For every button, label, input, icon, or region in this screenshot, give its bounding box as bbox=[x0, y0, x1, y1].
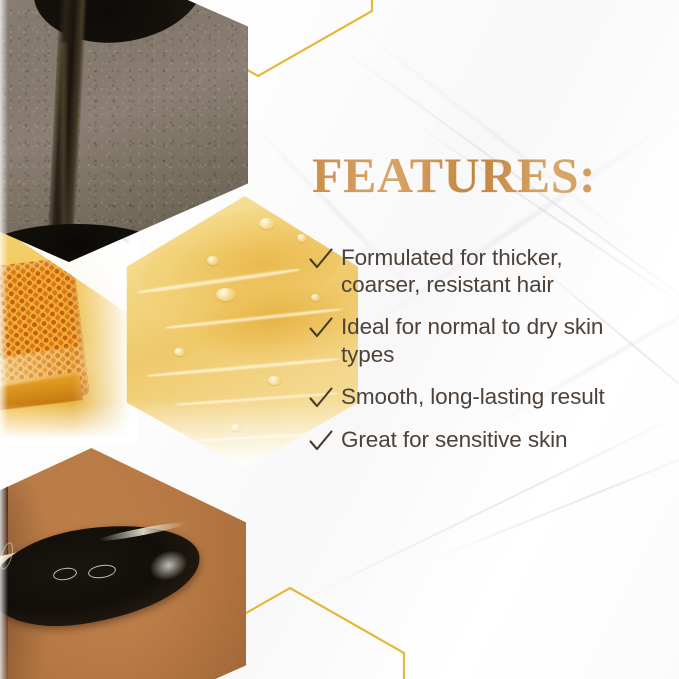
list-item: Formulated for thicker, coarser, resista… bbox=[308, 244, 670, 298]
features-heading: FEATURES: bbox=[312, 150, 670, 200]
image-fade-bottom bbox=[0, 403, 138, 444]
check-mark-icon bbox=[308, 315, 334, 341]
wax-bead bbox=[297, 234, 307, 242]
wax-bead bbox=[268, 376, 281, 385]
check-mark-icon bbox=[308, 428, 334, 454]
feature-label: Formulated for thicker, coarser, resista… bbox=[341, 244, 641, 298]
feature-label: Great for sensitive skin bbox=[341, 426, 567, 453]
check-mark-icon bbox=[308, 385, 334, 411]
check-mark-icon bbox=[308, 246, 334, 272]
wax-bead bbox=[207, 256, 219, 265]
feature-text-column: FEATURES: Formulated for thicker, coarse… bbox=[308, 150, 670, 469]
product-feature-graphic: FEATURES: Formulated for thicker, coarse… bbox=[0, 0, 679, 679]
wax-bead bbox=[259, 218, 275, 229]
list-item: Ideal for normal to dry skin types bbox=[308, 313, 670, 367]
feature-label: Ideal for normal to dry skin types bbox=[341, 313, 641, 367]
list-item: Great for sensitive skin bbox=[308, 426, 670, 454]
list-item: Smooth, long-lasting result bbox=[308, 383, 670, 411]
feature-label: Smooth, long-lasting result bbox=[341, 383, 605, 410]
features-list: Formulated for thicker, coarser, resista… bbox=[308, 244, 670, 454]
wax-bead bbox=[174, 348, 185, 356]
